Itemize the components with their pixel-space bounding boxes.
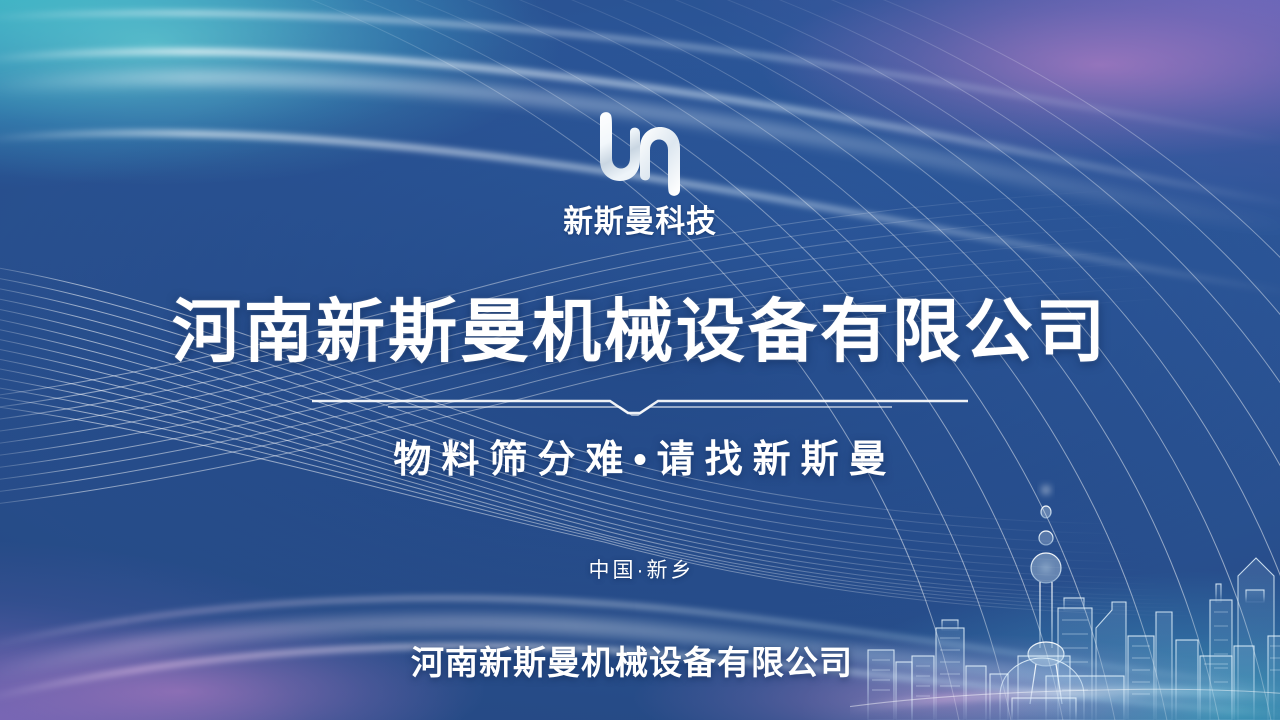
chevron-divider: [310, 394, 970, 420]
slide-canvas: 新斯曼科技 河南新斯曼机械设备有限公司 物料筛分难•请找新斯曼 中国·新乡 河南…: [0, 0, 1280, 720]
sinsman-monogram-icon: [586, 108, 694, 200]
logo-wordmark: 新斯曼科技: [563, 206, 717, 237]
slogan-separator-dot: •: [633, 439, 656, 481]
chevron-divider-icon: [310, 394, 970, 420]
slogan-left: 物料筛分难: [393, 439, 633, 481]
company-slogan: 物料筛分难•请找新斯曼: [0, 428, 1280, 483]
slogan-right: 请找新斯曼: [657, 439, 897, 481]
company-title: 河南新斯曼机械设备有限公司: [0, 296, 1280, 368]
logo-block: 新斯曼科技: [0, 108, 1280, 237]
location-label: 中国·新乡: [0, 554, 1280, 584]
footer-company-name: 河南新斯曼机械设备有限公司: [0, 636, 1280, 684]
